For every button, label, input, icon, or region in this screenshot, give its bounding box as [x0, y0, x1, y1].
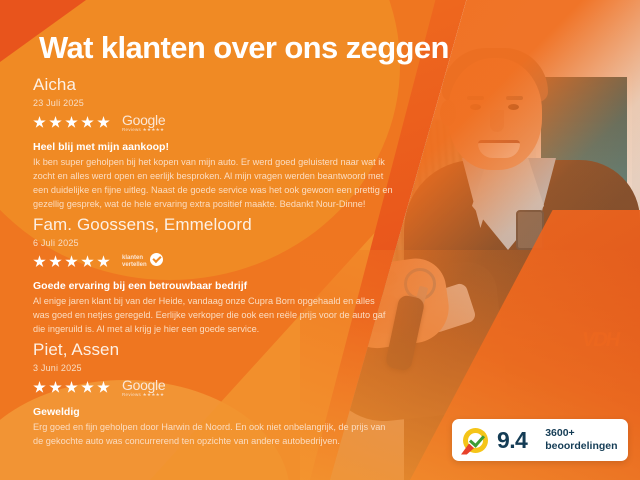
review-date: 6 Juli 2025	[33, 238, 413, 248]
klantenvertellen-logo: klanten vertellen	[122, 253, 163, 271]
google-wordmark: Google	[122, 113, 165, 127]
review-card-1: Aicha 23 Juli 2025 Google Reviews ★★★★★ …	[33, 76, 413, 212]
content-layer: Wat klanten over ons zeggen Aicha 23 Jul…	[0, 0, 640, 480]
review-body: Al enige jaren klant bij van der Heide, …	[33, 295, 393, 337]
klantenvertellen-wordmark: klanten vertellen	[122, 255, 147, 269]
score-count-label: beoordelingen	[545, 440, 617, 452]
overall-score-badge: 9.4 3600+ beoordelingen	[452, 419, 628, 461]
google-reviews-logo: Google Reviews ★★★★★	[122, 113, 165, 133]
google-wordmark: Google	[122, 378, 165, 392]
review-title: Geweldig	[33, 406, 413, 418]
page-title: Wat klanten over ons zeggen	[39, 30, 449, 66]
review-date: 3 Juni 2025	[33, 363, 413, 373]
star-icon	[33, 116, 46, 129]
star-icon	[97, 381, 110, 394]
review-card-2: Fam. Goossens, Emmeloord 6 Juli 2025 kla…	[33, 216, 413, 337]
klantenvertellen-line1: klanten	[122, 255, 147, 262]
star-icon	[65, 381, 78, 394]
google-reviews-sublabel: Reviews ★★★★★	[122, 393, 165, 398]
star-icon	[81, 255, 94, 268]
reviewer-name: Piet, Assen	[33, 341, 413, 360]
review-body: Ik ben super geholpen bij het kopen van …	[33, 156, 393, 212]
review-body: Erg goed en fijn geholpen door Harwin de…	[33, 421, 393, 449]
review-meta-row: klanten vertellen	[33, 253, 413, 271]
review-title: Heel blij met mijn aankoop!	[33, 141, 413, 153]
star-icon	[49, 381, 62, 394]
star-icon	[49, 116, 62, 129]
verified-check-icon	[463, 428, 488, 453]
score-count: 3600+	[545, 427, 617, 440]
reviewer-name: Fam. Goossens, Emmeloord	[33, 216, 413, 235]
reviewer-name: Aicha	[33, 76, 413, 95]
review-meta-row: Google Reviews ★★★★★	[33, 113, 413, 133]
review-card-3: Piet, Assen 3 Juni 2025 Google Reviews ★…	[33, 341, 413, 449]
checkmark-circle-icon	[150, 253, 163, 266]
score-value: 9.4	[497, 427, 527, 454]
star-rating	[33, 255, 110, 268]
google-reviews-sublabel: Reviews ★★★★★	[122, 128, 165, 133]
star-rating	[33, 116, 110, 129]
star-icon	[81, 116, 94, 129]
review-meta-row: Google Reviews ★★★★★	[33, 378, 413, 398]
klantenvertellen-line2: vertellen	[122, 262, 147, 269]
star-rating	[33, 381, 110, 394]
google-reviews-logo: Google Reviews ★★★★★	[122, 378, 165, 398]
star-icon	[49, 255, 62, 268]
star-icon	[81, 381, 94, 394]
star-icon	[97, 116, 110, 129]
star-icon	[97, 255, 110, 268]
score-count-block: 3600+ beoordelingen	[545, 427, 617, 453]
review-date: 23 Juli 2025	[33, 98, 413, 108]
star-icon	[33, 255, 46, 268]
star-icon	[65, 255, 78, 268]
star-icon	[65, 116, 78, 129]
star-icon	[33, 381, 46, 394]
review-title: Goede ervaring bij een betrouwbaar bedri…	[33, 280, 413, 292]
testimonial-banner: VDH Wat klanten over ons zeggen Aicha 23…	[0, 0, 640, 480]
